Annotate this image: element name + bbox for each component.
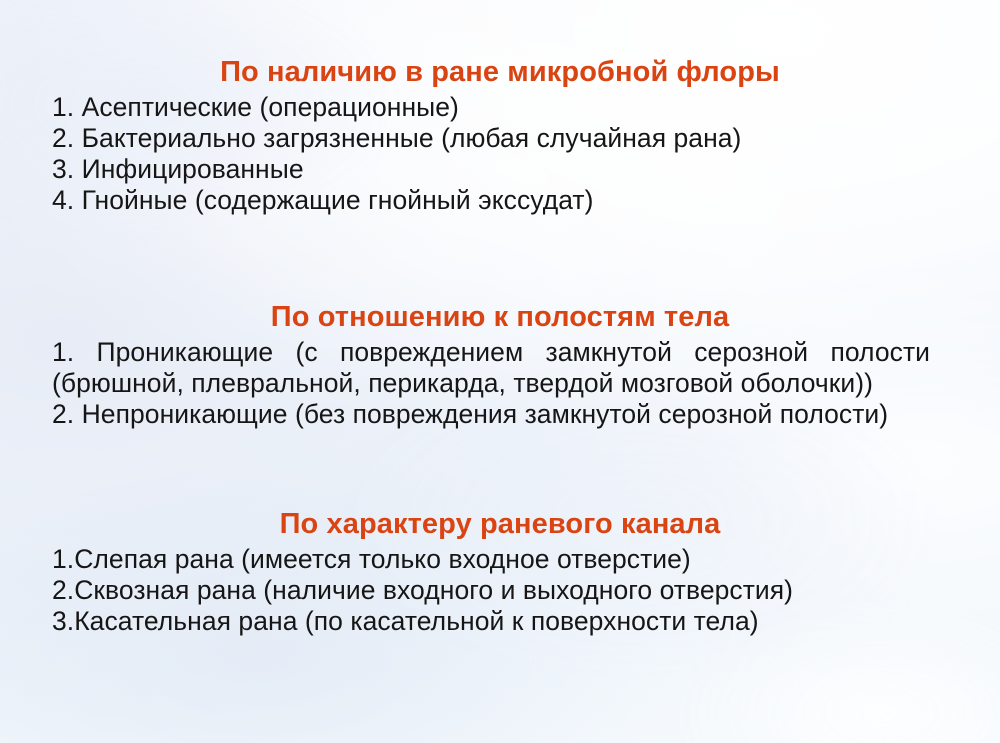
list-item-line: 1. Проникающие (с повреждением замкнутой… bbox=[52, 337, 930, 368]
section-heading-microbial-flora: По наличию в ране микробной флоры bbox=[52, 55, 964, 89]
list-item: 2. Непроникающие (без повреждения замкну… bbox=[52, 399, 964, 430]
list-item-justified: 1. Проникающие (с повреждением замкнутой… bbox=[52, 337, 964, 399]
slide-content: По наличию в ране микробной флоры 1. Асе… bbox=[0, 0, 1000, 743]
list-item: 3.Касательная рана (по касательной к пов… bbox=[52, 606, 964, 637]
list-item: 4. Гнойные (содержащие гнойный экссудат) bbox=[52, 185, 964, 216]
list-item: 3. Инфицированные bbox=[52, 154, 964, 185]
list-item: 1. Асептические (операционные) bbox=[52, 92, 964, 123]
list-item: 2. Бактериально загрязненные (любая случ… bbox=[52, 123, 964, 154]
list-item: 1.Слепая рана (имеется только входное от… bbox=[52, 544, 964, 575]
list-item: 2.Сквозная рана (наличие входного и выхо… bbox=[52, 575, 964, 606]
section-body-cavities: По отношению к полостям тела 1. Проникаю… bbox=[0, 300, 1000, 430]
section-heading-wound-channel: По характеру раневого канала bbox=[52, 507, 964, 541]
section-wound-channel: По характеру раневого канала 1.Слепая ра… bbox=[0, 507, 1000, 637]
slide: По наличию в ране микробной флоры 1. Асе… bbox=[0, 0, 1000, 743]
section-microbial-flora: По наличию в ране микробной флоры 1. Асе… bbox=[0, 55, 1000, 216]
section-heading-body-cavities: По отношению к полостям тела bbox=[52, 300, 964, 334]
list-item-line: (брюшной, плевральной, перикарда, твердо… bbox=[52, 368, 930, 399]
